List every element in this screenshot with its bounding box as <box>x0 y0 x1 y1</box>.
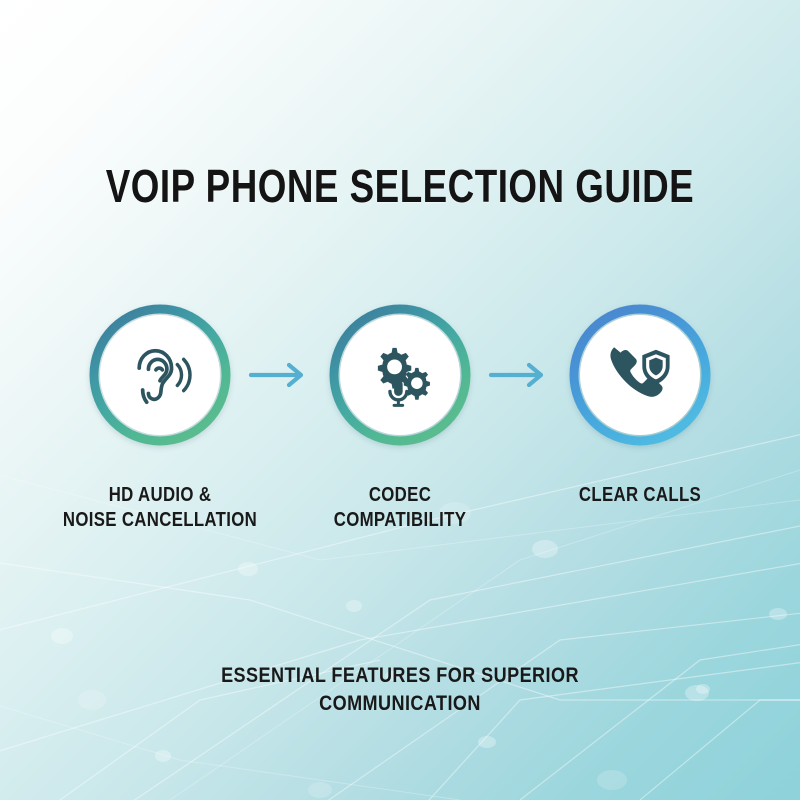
gears-microphone-icon <box>363 338 437 412</box>
step-circle <box>325 300 475 450</box>
step-circle <box>565 300 715 450</box>
step-clear-calls[interactable] <box>565 300 715 450</box>
step-label-line1: HD AUDIO & <box>109 484 212 506</box>
step-label-codec: CODEC COMPATIBILITY <box>282 483 517 533</box>
footer-line2: COMMUNICATION <box>56 690 744 718</box>
arrow-step1-to-step2 <box>248 360 312 390</box>
step-codec-compatibility[interactable] <box>325 300 475 450</box>
ear-sound-waves-icon <box>123 338 197 412</box>
step-labels-row: HD AUDIO & NOISE CANCELLATION CODEC COMP… <box>0 483 800 553</box>
step-label-line1: CLEAR CALLS <box>579 484 701 506</box>
step-hd-audio[interactable] <box>85 300 235 450</box>
steps-row <box>0 300 800 460</box>
footer-line1: ESSENTIAL FEATURES FOR SUPERIOR <box>221 664 579 687</box>
step-label-hd-audio: HD AUDIO & NOISE CANCELLATION <box>42 483 277 533</box>
phone-shield-icon <box>603 338 677 412</box>
step-circle <box>85 300 235 450</box>
page-title: VOIP PHONE SELECTION GUIDE <box>80 163 720 209</box>
step-label-clear-calls: CLEAR CALLS <box>522 483 757 508</box>
footer-tagline: ESSENTIAL FEATURES FOR SUPERIOR COMMUNIC… <box>56 662 744 718</box>
step-label-line1: CODEC <box>369 484 431 506</box>
step-label-line2: COMPATIBILITY <box>282 508 517 533</box>
arrow-step2-to-step3 <box>488 360 552 390</box>
infographic-canvas: VOIP PHONE SELECTION GUIDE <box>0 0 800 800</box>
step-label-line2: NOISE CANCELLATION <box>42 508 277 533</box>
